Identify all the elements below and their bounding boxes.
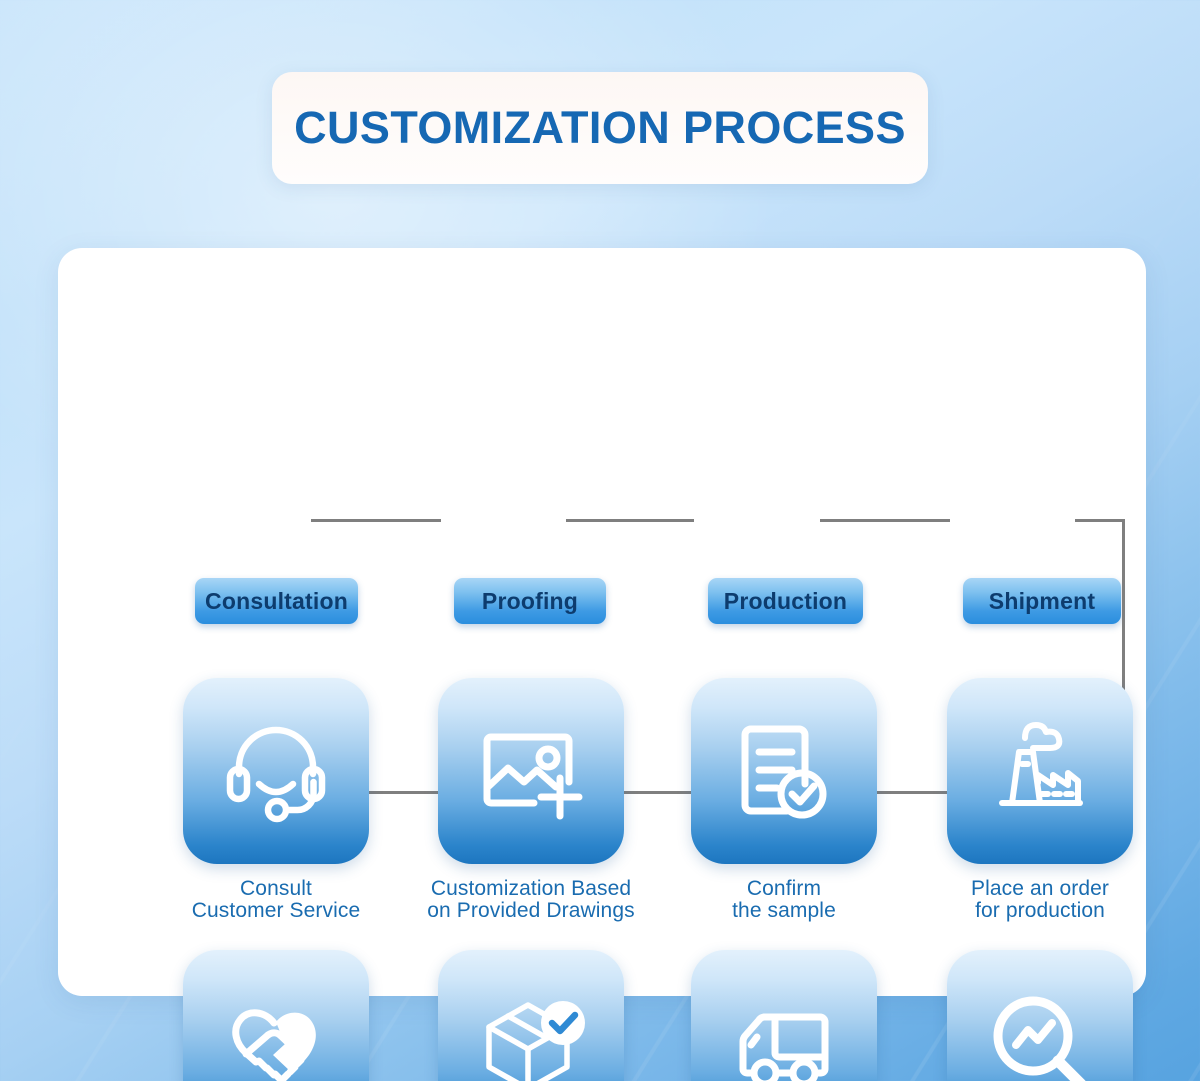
stage-pill-proofing[interactable]: Proofing: [454, 578, 606, 624]
step-customization-based-on-drawings[interactable]: Customization Based on Provided Drawings: [438, 678, 624, 923]
stage-pill-label: Production: [724, 588, 847, 615]
stage-pill-label: Consultation: [205, 588, 348, 615]
title-banner: CUSTOMIZATION PROCESS: [272, 72, 928, 184]
step-logistics-shipment[interactable]: Logistics Shipment: [691, 950, 877, 1081]
step-icon-tile: [947, 678, 1133, 864]
step-place-order-for-production[interactable]: Place an order for production: [947, 678, 1133, 923]
step-consult-customer-service[interactable]: Consult Customer Service: [183, 678, 369, 923]
stage-pill-consultation[interactable]: Consultation: [195, 578, 358, 624]
document-check-icon: [725, 712, 843, 830]
step-factory-inspection[interactable]: Factory Inspection: [947, 950, 1133, 1081]
step-icon-tile: [691, 678, 877, 864]
page-title: CUSTOMIZATION PROCESS: [294, 102, 906, 154]
stage-pill-label: Proofing: [482, 588, 578, 615]
headset-icon: [217, 712, 335, 830]
delivery-truck-icon: [725, 984, 843, 1081]
step-icon-tile: [438, 950, 624, 1081]
step-icon-tile: [183, 950, 369, 1081]
connector-step3-step4: [820, 519, 950, 522]
stage-pill-label: Shipment: [989, 588, 1095, 615]
handshake-heart-icon: [215, 982, 337, 1081]
step-icon-tile: [183, 678, 369, 864]
step-caption: Consult Customer Service: [161, 878, 391, 923]
stage-pill-shipment[interactable]: Shipment: [963, 578, 1121, 624]
add-image-icon: [472, 712, 590, 830]
connector-step4-wrap-top: [1075, 519, 1125, 522]
step-worry-free-after-sales-service[interactable]: Worry-free after-sales service: [183, 950, 369, 1081]
stage-pill-production[interactable]: Production: [708, 578, 863, 624]
process-panel: Consultation Proofing Production Shipmen…: [58, 248, 1146, 996]
step-icon-tile: [947, 950, 1133, 1081]
connector-step2-step3: [566, 519, 694, 522]
step-confirm-the-sample[interactable]: Confirm the sample: [691, 678, 877, 923]
step-caption: Place an order for production: [925, 878, 1155, 923]
magnifier-chart-icon: [980, 983, 1100, 1081]
step-caption: Customization Based on Provided Drawings: [401, 878, 661, 923]
box-check-icon: [471, 983, 591, 1081]
connector-step1-step2: [311, 519, 441, 522]
step-icon-tile: [438, 678, 624, 864]
step-confirm-receipt-of-goods[interactable]: Confirm receipt of goods: [438, 950, 624, 1081]
factory-icon: [981, 712, 1099, 830]
step-icon-tile: [691, 950, 877, 1081]
step-caption: Confirm the sample: [674, 878, 894, 923]
